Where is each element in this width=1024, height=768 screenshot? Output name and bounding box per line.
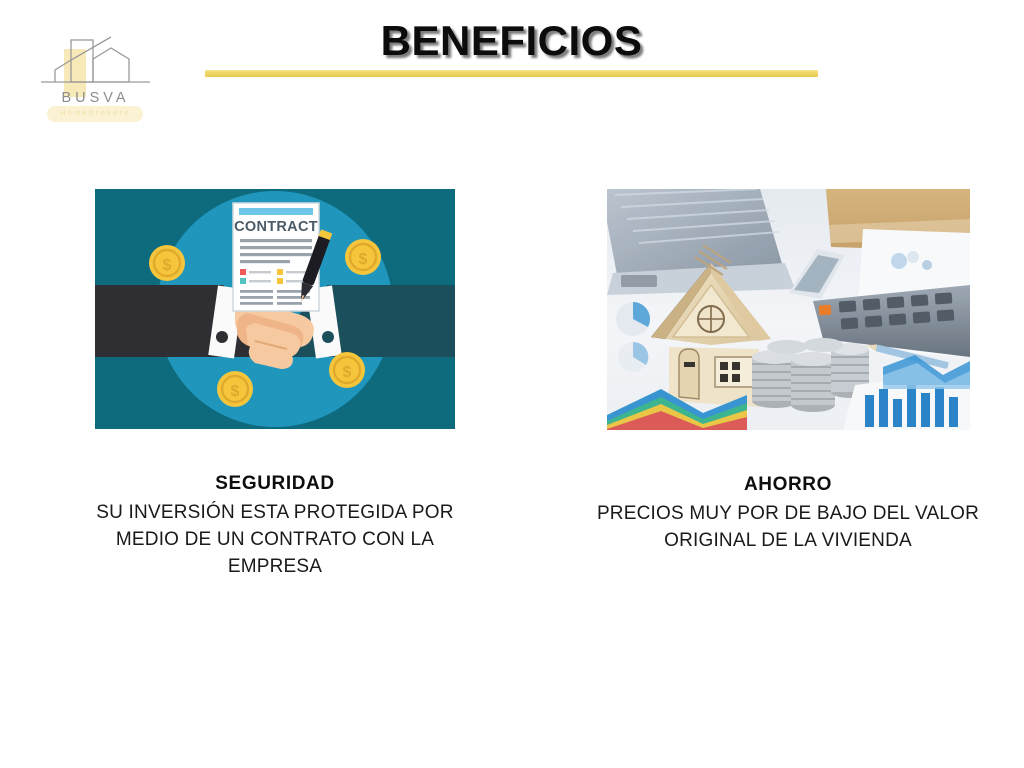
benefit-column-ahorro: AHORRO PRECIOS MUY POR DE BAJO DEL VALOR…	[563, 189, 1013, 555]
svg-text:CONTRACT: CONTRACT	[234, 219, 318, 235]
brand-wordmark: BUSVA	[33, 90, 158, 106]
svg-text:$: $	[163, 257, 172, 274]
benefit-heading: AHORRO	[563, 473, 1013, 497]
benefit-caption-ahorro: AHORRO PRECIOS MUY POR DE BAJO DEL VALOR…	[563, 473, 1013, 555]
benefit-heading: SEGURIDAD	[50, 472, 500, 496]
model-house-coins-calculator-photo	[607, 189, 970, 430]
svg-text:$: $	[359, 251, 368, 268]
benefit-caption-seguridad: SEGURIDAD SU INVERSIÓN ESTA PROTEGIDA PO…	[50, 472, 500, 581]
title-underline-rule	[205, 70, 818, 77]
benefit-body: PRECIOS MUY POR DE BAJO DEL VALOR ORIGIN…	[563, 501, 1013, 555]
handshake-contract-illustration: CONTRACT	[95, 189, 455, 429]
svg-text:$: $	[231, 383, 240, 400]
benefit-column-seguridad: CONTRACT	[50, 189, 500, 581]
benefit-body: SU INVERSIÓN ESTA PROTEGIDA POR MEDIO DE…	[50, 500, 500, 581]
brand-logo: BUSVA Homebrokers	[33, 32, 158, 132]
brand-tagline: Homebrokers	[33, 110, 158, 117]
svg-text:$: $	[343, 364, 352, 381]
page-title: BENEFICIOS	[205, 20, 818, 62]
